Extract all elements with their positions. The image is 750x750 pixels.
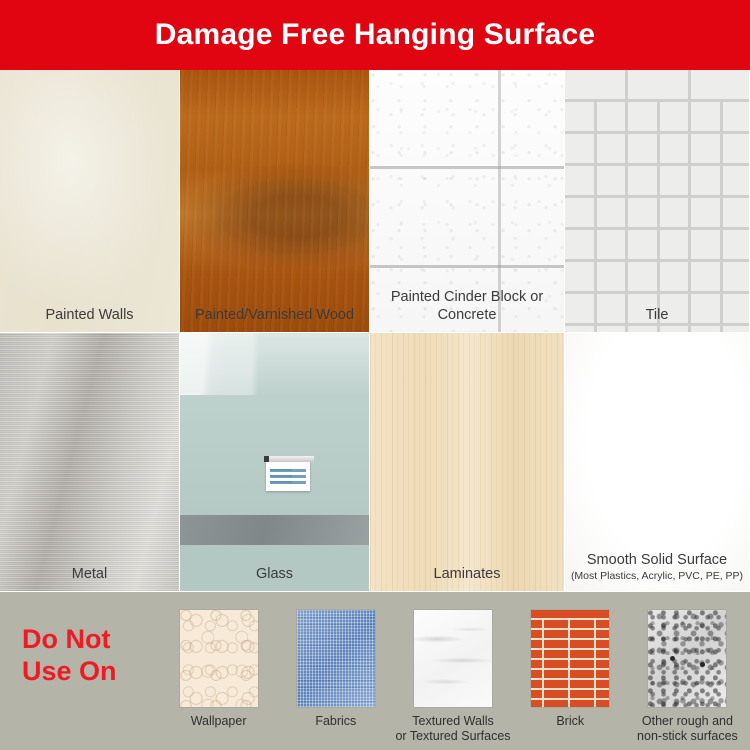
surface-cell-metal: Metal (0, 333, 180, 592)
do-not-use-item-rough-surfaces: Other rough and non-stick surfaces (629, 610, 746, 744)
label-line1: Wallpaper (191, 714, 247, 729)
hole-mark (700, 662, 705, 667)
do-not-use-title: Do Not Use On (22, 624, 162, 688)
surface-label-painted-walls: Painted Walls (0, 303, 179, 332)
hole-mark (670, 656, 675, 661)
surface-label-metal: Metal (0, 562, 179, 591)
label-line2: non-stick surfaces (637, 729, 738, 744)
ceiling-reflection (180, 333, 369, 395)
surface-cell-tile: Tile (565, 70, 750, 333)
fabric-texture-icon (297, 610, 375, 707)
brick-texture-icon (531, 610, 609, 707)
wallpaper-texture-icon (180, 610, 258, 707)
label-line1: Fabrics (315, 714, 356, 729)
infographic-sheet: Damage Free Hanging Surface Painted Wall… (0, 0, 750, 750)
do-not-use-label-fabrics: Fabrics (315, 714, 356, 729)
glass-note-text-lines (270, 469, 306, 487)
textured-wall-texture-icon (414, 610, 492, 707)
do-not-use-label-rough-surfaces: Other rough and non-stick surfaces (637, 714, 738, 744)
do-not-use-item-wallpaper: Wallpaper (160, 610, 277, 729)
surface-label-smooth-solid-sub: (Most Plastics, Acrylic, PVC, PE, PP) (567, 570, 747, 583)
floor-strip (180, 515, 369, 545)
surface-label-painted-wood: Painted/Varnished Wood (180, 303, 369, 332)
do-not-use-title-line2: Use On (22, 656, 162, 688)
label-line1: Brick (556, 714, 584, 729)
do-not-use-label-textured-walls: Textured Walls or Textured Surfaces (395, 714, 510, 744)
surface-cell-glass: Glass (180, 333, 370, 592)
glass-note-clip (264, 456, 314, 462)
surface-label-tile: Tile (565, 303, 749, 332)
do-not-use-list: Wallpaper Fabrics Textured Walls or Text… (160, 610, 746, 744)
label-line1: Other rough and (637, 714, 738, 729)
surface-label-glass: Glass (180, 562, 369, 591)
surface-label-smooth-solid: Smooth Solid Surface (Most Plastics, Acr… (565, 548, 749, 591)
label-line1: Textured Walls (395, 714, 510, 729)
surface-label-cinder-block: Painted Cinder Block or Concrete (370, 285, 564, 332)
approved-surface-grid: Painted Walls Painted/Varnished Wood Pai… (0, 70, 750, 592)
do-not-use-title-line1: Do Not (22, 624, 162, 656)
surface-cell-painted-walls: Painted Walls (0, 70, 180, 333)
page-title: Damage Free Hanging Surface (155, 20, 596, 50)
surface-cell-painted-wood: Painted/Varnished Wood (180, 70, 370, 333)
surface-cell-laminates: Laminates (370, 333, 565, 592)
header-banner: Damage Free Hanging Surface (0, 0, 750, 70)
do-not-use-label-wallpaper: Wallpaper (191, 714, 247, 729)
do-not-use-section: Do Not Use On Wallpaper Fabrics Textured… (0, 592, 750, 750)
rough-surface-texture-icon (648, 610, 726, 707)
surface-label-laminates: Laminates (370, 562, 564, 591)
do-not-use-label-brick: Brick (556, 714, 584, 729)
surface-cell-smooth-solid: Smooth Solid Surface (Most Plastics, Acr… (565, 333, 750, 592)
do-not-use-item-fabrics: Fabrics (277, 610, 394, 729)
label-line2: or Textured Surfaces (395, 729, 510, 744)
surface-cell-cinder-block: Painted Cinder Block or Concrete (370, 70, 565, 333)
do-not-use-item-textured-walls: Textured Walls or Textured Surfaces (394, 610, 511, 744)
do-not-use-item-brick: Brick (512, 610, 629, 729)
surface-label-smooth-solid-main: Smooth Solid Surface (587, 552, 727, 568)
